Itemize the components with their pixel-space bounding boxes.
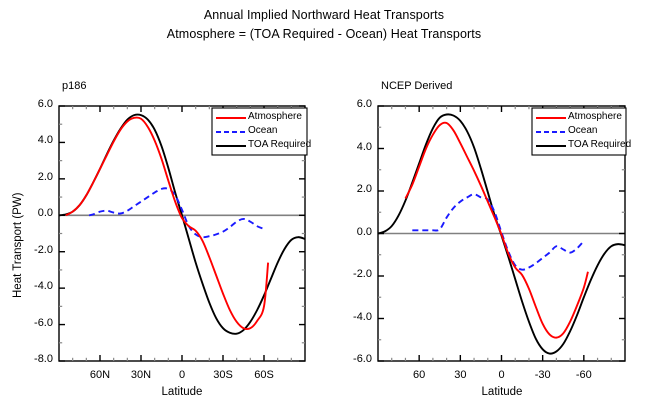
y-tick-label: -4.0: [15, 280, 53, 292]
y-tick-label: -2.0: [15, 244, 53, 256]
y-tick-label: 0.0: [334, 226, 372, 238]
figure-root: Annual Implied Northward Heat Transports…: [0, 0, 648, 408]
legend-label-ocean: Ocean: [568, 125, 597, 136]
y-tick-label: -6.0: [15, 317, 53, 329]
y-tick-label: -6.0: [334, 353, 372, 365]
y-tick-label: 4.0: [334, 141, 372, 153]
legend-label-toa-required: TOA Required: [248, 139, 311, 150]
y-tick-label: -4.0: [334, 311, 372, 323]
y-tick-label: -8.0: [15, 353, 53, 365]
series-line-ocean: [412, 194, 584, 269]
legend-label-toa-required: TOA Required: [568, 139, 631, 150]
legend-label-ocean: Ocean: [248, 125, 277, 136]
legend-label-atmosphere: Atmosphere: [248, 111, 302, 122]
y-tick-label: 0.0: [15, 207, 53, 219]
y-tick-label: 2.0: [15, 171, 53, 183]
y-tick-label: 4.0: [15, 134, 53, 146]
x-tick-label: 60S: [239, 369, 289, 381]
x-tick-label: -60: [559, 369, 609, 381]
y-tick-label: 6.0: [15, 98, 53, 110]
y-tick-label: -2.0: [334, 268, 372, 280]
y-tick-label: 2.0: [334, 183, 372, 195]
plot-canvas: [0, 0, 648, 408]
y-tick-label: 6.0: [334, 98, 372, 110]
legend-label-atmosphere: Atmosphere: [568, 111, 622, 122]
